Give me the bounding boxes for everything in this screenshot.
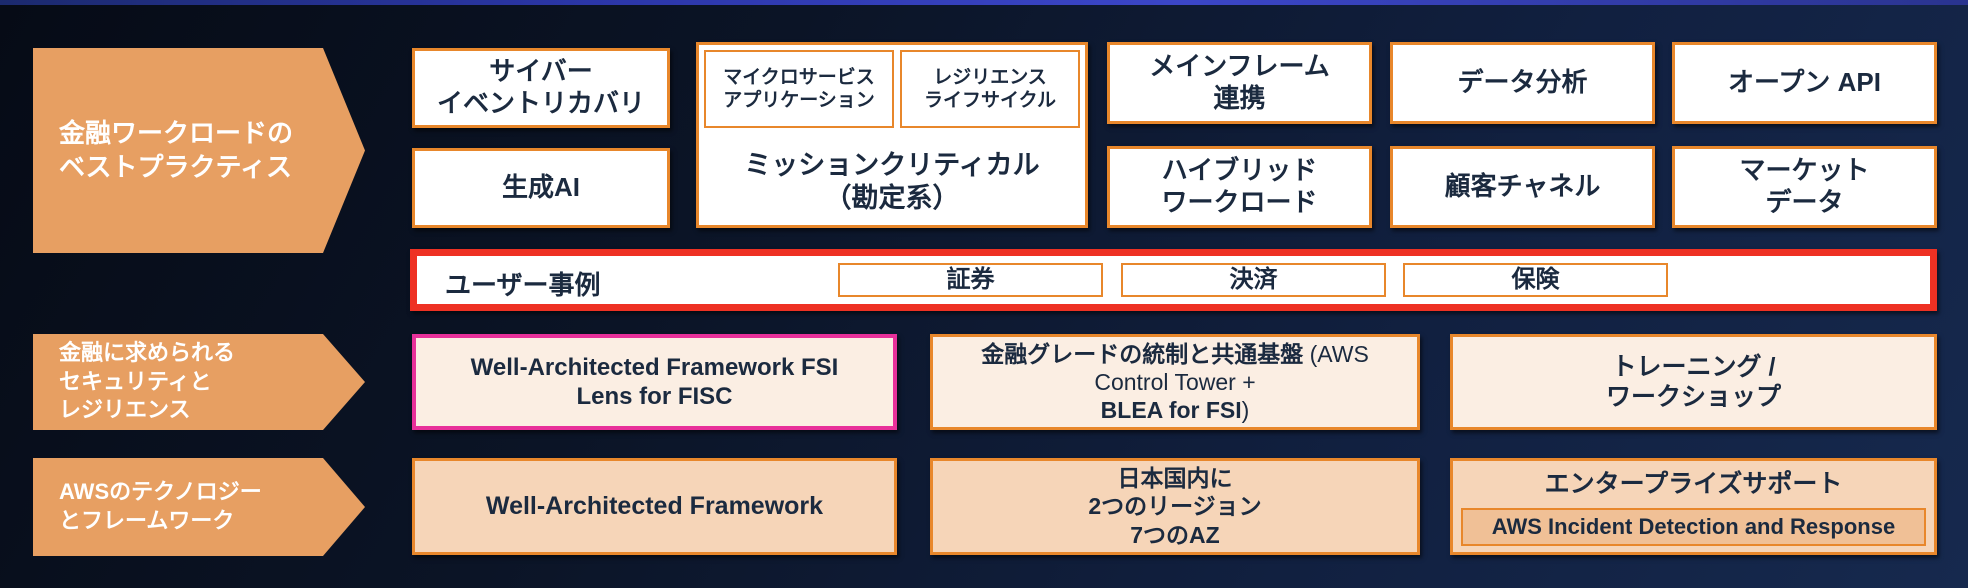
workload-market-data[interactable]: マーケット データ — [1672, 146, 1937, 228]
financial-grade-governance-text: 金融グレードの統制と共通基盤 (AWS Control Tower + BLEA… — [981, 340, 1369, 424]
workload-mainframe-integration[interactable]: メインフレーム 連携 — [1107, 42, 1372, 124]
workload-microservice-application[interactable]: マイクロサービス アプリケーション — [704, 50, 894, 128]
card-training-workshop[interactable]: トレーニング / ワークショップ — [1450, 334, 1937, 430]
use-case-securities[interactable]: 証券 — [838, 263, 1103, 297]
slide-canvas: 金融ワークロードの ベストプラクティス 金融に求められる セキュリティと レジリ… — [0, 0, 1968, 588]
workload-generative-ai[interactable]: 生成AI — [412, 148, 670, 228]
enterprise-support-label: エンタープライズサポート — [1545, 469, 1843, 500]
workload-cyber-event-recovery[interactable]: サイバー イベントリカバリ — [412, 48, 670, 128]
lane-label-technology-framework: AWSのテクノロジー とフレームワーク — [33, 478, 262, 535]
lane-chevron-best-practices: 金融ワークロードの ベストプラクティス — [33, 48, 365, 253]
lane-chevron-technology-framework: AWSのテクノロジー とフレームワーク — [33, 458, 365, 556]
card-wa-framework-fsi-lens[interactable]: Well-Architected Framework FSI Lens for … — [412, 334, 897, 430]
workload-hybrid-workload[interactable]: ハイブリッド ワークロード — [1107, 146, 1372, 228]
fgg-part-2: BLEA for FSI — [1101, 397, 1242, 423]
use-cases-title: ユーザー事例 — [445, 265, 600, 302]
use-cases-band: ユーザー事例 証券 決済 保険 — [410, 249, 1937, 311]
workload-mission-critical-label: ミッションクリティカル （勘定系） — [744, 149, 1039, 215]
lane-label-best-practices: 金融ワークロードの ベストプラクティス — [33, 117, 293, 185]
card-well-architected-framework[interactable]: Well-Architected Framework — [412, 458, 897, 555]
card-financial-grade-governance[interactable]: 金融グレードの統制と共通基盤 (AWS Control Tower + BLEA… — [930, 334, 1420, 430]
fgg-part-0: 金融グレードの統制と共通基盤 — [981, 341, 1309, 367]
use-case-insurance[interactable]: 保険 — [1403, 263, 1668, 297]
card-aws-incident-detection-response[interactable]: AWS Incident Detection and Response — [1461, 508, 1926, 546]
lane-chevron-security-resilience: 金融に求められる セキュリティと レジリエンス — [33, 334, 365, 430]
workload-resilience-lifecycle[interactable]: レジリエンス ライフサイクル — [900, 50, 1080, 128]
use-case-payments[interactable]: 決済 — [1121, 263, 1386, 297]
workload-data-analytics[interactable]: データ分析 — [1390, 42, 1655, 124]
workload-open-api[interactable]: オープン API — [1672, 42, 1937, 124]
card-japan-regions-az[interactable]: 日本国内に 2つのリージョン 7つのAZ — [930, 458, 1420, 555]
workload-customer-channel[interactable]: 顧客チャネル — [1390, 146, 1655, 228]
lane-label-security-resilience: 金融に求められる セキュリティと レジリエンス — [33, 339, 235, 425]
fgg-part-3: ) — [1242, 397, 1250, 423]
top-accent-line — [0, 0, 1968, 5]
